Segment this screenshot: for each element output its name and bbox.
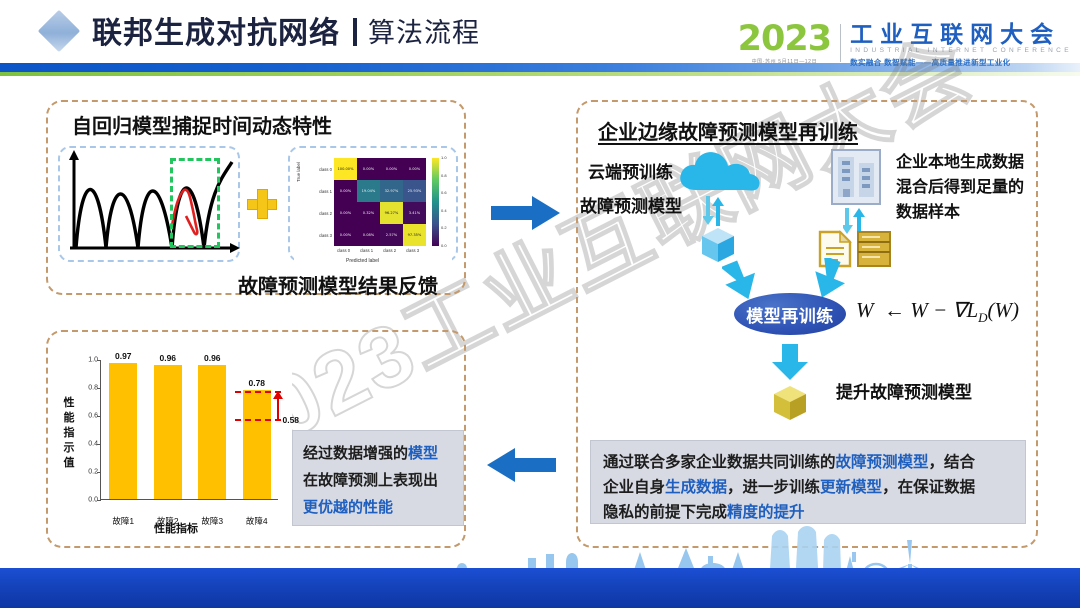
enterprise-line-1: 混合后得到足量的	[896, 175, 1024, 200]
chart-ytick-mark	[97, 388, 101, 389]
arrow-right-icon	[488, 196, 560, 230]
diamond-icon	[38, 10, 80, 52]
confusion-matrix-cell: 32.97%	[380, 180, 403, 202]
summary-left-line: 更优越的性能	[303, 494, 453, 521]
logo-tagline: 数实融合 数智赋能——高质量推进新型工业化	[850, 57, 1072, 68]
plain-text: ，在保证数据	[882, 479, 975, 496]
confusion-matrix-cell: 2.57%	[380, 224, 403, 246]
cloud-pretrain-label-2: 故障预测模型	[580, 192, 682, 217]
colorbar-tick: 0.8	[441, 173, 447, 178]
page-title-sub: 算法流程	[368, 11, 480, 50]
arrow-left-icon	[487, 448, 559, 482]
chart-ytick-mark	[97, 500, 101, 501]
highlight-green-box	[170, 158, 220, 248]
panel-b-title: 企业边缘故障预测模型再训练	[598, 116, 858, 145]
colorbar-tick: 0.6	[441, 190, 447, 195]
plain-text: 在故障预测上表现出	[303, 472, 438, 489]
enterprise-data-text: 企业本地生成数据 混合后得到足量的 数据样本	[896, 150, 1024, 225]
logo-en-name: INDUSTRIAL INTERNET CONFERENCE	[850, 47, 1072, 54]
chart-bar	[198, 365, 226, 499]
highlighted-term: 精度的提升	[727, 504, 805, 521]
summary-textbox-right: 通过联合多家企业数据共同训练的故障预测模型，结合企业自身生成数据，进一步训练更新…	[590, 440, 1026, 524]
plain-text: 经过数据增强的	[303, 445, 408, 462]
enterprise-line-2: 数据样本	[896, 200, 1024, 225]
cloud-icon	[676, 148, 762, 194]
confusion-matrix-cell: 0.00%	[357, 158, 380, 180]
plain-text: ，进一步训练	[727, 479, 820, 496]
boost-model-label: 提升故障预测模型	[836, 378, 972, 403]
confusion-matrix-cell: 100.00%	[334, 158, 357, 180]
colorbar-tick: 0.2	[441, 225, 447, 230]
confusion-matrix-cell: 0.00%	[334, 202, 357, 224]
sea-band	[0, 568, 1080, 608]
chart-ytick-mark	[97, 472, 101, 473]
confusion-matrix: 100.00%0.00%0.00%0.00%0.00%19.04%32.97%2…	[294, 152, 452, 268]
retrain-ellipse: 模型再训练	[734, 293, 846, 335]
chart-bar	[154, 365, 182, 499]
chart-ylabel: 性能指示值	[62, 396, 76, 471]
chart-ytick-mark	[97, 416, 101, 417]
slide-root: 联邦生成对抗网络 算法流程 2023 中国·苏州 5月11日—12日 工业互联网…	[0, 0, 1080, 608]
logo-divider	[840, 24, 841, 62]
conference-logo: 2023 中国·苏州 5月11日—12日 工业互联网大会 INDUSTRIAL …	[738, 22, 1072, 72]
header-rule-green	[0, 72, 1080, 76]
title-divider	[353, 18, 357, 46]
chart-bar-value: 0.96	[204, 353, 221, 363]
confusion-matrix-cell: 19.04%	[357, 180, 380, 202]
logo-year-sub: 中国·苏州 5月11日—12日	[752, 58, 818, 65]
colorbar-tick: 0.4	[441, 208, 447, 213]
chart-ytick-mark	[97, 360, 101, 361]
page-title-main: 联邦生成对抗网络	[92, 8, 340, 52]
gold-cube-icon	[768, 380, 812, 424]
confusion-matrix-xlabel: Predicted label	[346, 258, 379, 264]
logo-cn-name: 工业互联网大会	[850, 22, 1072, 46]
confusion-matrix-xtick: class 1	[360, 248, 373, 253]
plain-text: 通过联合多家企业数据共同训练的	[603, 454, 836, 471]
confusion-matrix-cell: 0.00%	[334, 180, 357, 202]
confusion-matrix-cell: 0.32%	[357, 202, 380, 224]
highlighted-term: 故障预测模型	[836, 454, 929, 471]
panel-a-title: 自回归模型捕捉时间动态特性	[72, 110, 332, 139]
chart-bar	[243, 390, 271, 499]
colorbar-tick: 1.0	[441, 155, 447, 160]
confusion-matrix-cell: 0.00%	[380, 158, 403, 180]
chart-bar-value: 0.96	[159, 353, 176, 363]
summary-left-line: 经过数据增强的模型	[303, 440, 453, 467]
database-icon	[856, 230, 892, 268]
confusion-matrix-xtick: class 0	[337, 248, 350, 253]
confusion-matrix-colorbar	[432, 158, 439, 246]
chart-ytick-mark	[97, 444, 101, 445]
confusion-matrix-ytick: class 1	[319, 189, 332, 194]
confusion-matrix-cell: 3.41%	[403, 202, 426, 224]
confusion-matrix-cell: 0.08%	[357, 224, 380, 246]
plain-text: ，结合	[929, 454, 976, 471]
highlighted-term: 生成数据	[665, 479, 727, 496]
retrain-formula: W ← W − ∇LD(W)	[856, 298, 1019, 326]
enterprise-line-0: 企业本地生成数据	[896, 150, 1024, 175]
summary-right-line: 企业自身生成数据，进一步训练更新模型，在保证数据	[603, 475, 1013, 500]
performance-bar-chart: 性能指示值 0.00.20.40.60.81.00.97故障10.96故障20.…	[60, 348, 292, 536]
panel-a-caption: 故障预测模型结果反馈	[238, 270, 438, 299]
confusion-matrix-xtick: class 3	[406, 248, 419, 253]
confusion-matrix-cell: 96.27%	[380, 202, 403, 224]
plain-text: 企业自身	[603, 479, 665, 496]
chart-bar-value: 0.78	[248, 378, 265, 388]
logo-year: 2023	[738, 22, 831, 56]
chart-plot-area: 0.00.20.40.60.81.00.97故障10.96故障20.96故障30…	[100, 360, 278, 500]
highlighted-term: 模型	[408, 445, 438, 462]
confusion-matrix-cell: 25.93%	[403, 180, 426, 202]
cloud-pretrain-label-1: 云端预训练	[588, 158, 673, 183]
summary-right-line: 通过联合多家企业数据共同训练的故障预测模型，结合	[603, 450, 1013, 475]
confusion-matrix-xtick: class 2	[383, 248, 396, 253]
summary-left-line: 在故障预测上表现出	[303, 467, 453, 494]
highlighted-term: 更新模型	[820, 479, 882, 496]
confusion-matrix-cell: 0.00%	[403, 158, 426, 180]
colorbar-tick: 0.0	[441, 243, 447, 248]
confusion-matrix-ylabel: True label	[296, 162, 301, 182]
confusion-matrix-ytick: class 0	[319, 167, 332, 172]
chart-bar	[109, 363, 137, 499]
chart-bar-value: 0.97	[115, 351, 132, 361]
plain-text: 隐私的前提下完成	[603, 504, 727, 521]
plus-icon	[247, 189, 277, 219]
confusion-matrix-cell: 97.35%	[403, 224, 426, 246]
confusion-matrix-ytick: class 2	[319, 211, 332, 216]
arrow-down-icon	[770, 342, 810, 382]
page-title: 联邦生成对抗网络 算法流程	[92, 8, 480, 52]
confusion-matrix-ytick: class 3	[319, 233, 332, 238]
summary-textbox-left: 经过数据增强的模型在故障预测上表现出更优越的性能	[292, 430, 464, 526]
building-icon	[830, 148, 882, 206]
autoregressive-wave-plot	[62, 148, 240, 260]
chart-annot-lower	[235, 419, 281, 421]
confusion-matrix-cell: 0.00%	[334, 224, 357, 246]
chart-annot-low-value: 0.58	[282, 415, 299, 425]
highlighted-term: 更优越的性能	[303, 499, 393, 516]
confusion-matrix-grid: 100.00%0.00%0.00%0.00%0.00%19.04%32.97%2…	[334, 158, 426, 246]
